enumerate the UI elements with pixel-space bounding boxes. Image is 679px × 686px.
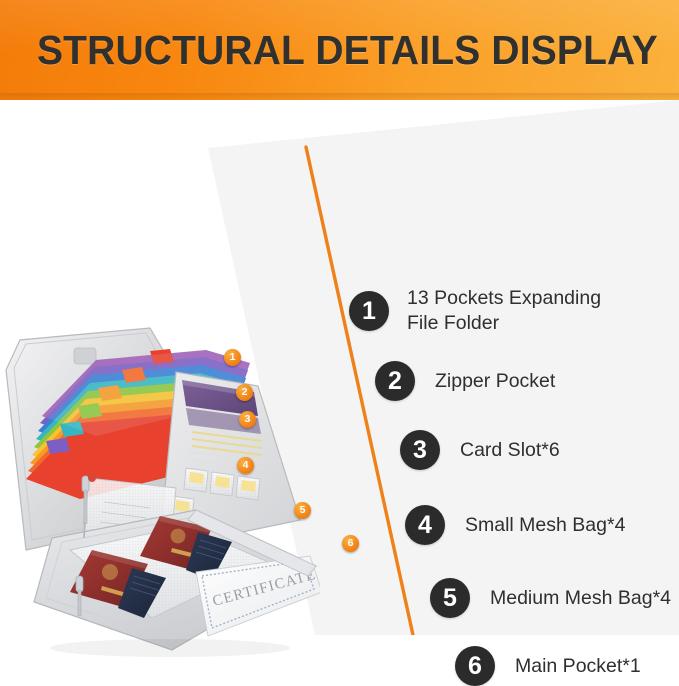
page-title: STRUCTURAL DETAILS DISPLAY [37, 27, 658, 73]
legend-label-5: Medium Mesh Bag*4 [490, 586, 671, 611]
legend-item-5: 5 Medium Mesh Bag*4 [430, 578, 671, 618]
legend-item-1: 1 13 Pockets Expanding File Folder [349, 286, 601, 336]
header-underline-band [0, 93, 679, 100]
legend-badge-1: 1 [349, 291, 389, 331]
legend-label-2: Zipper Pocket [435, 369, 555, 394]
legend-label-6: Main Pocket*1 [515, 654, 641, 679]
legend-item-4: 4 Small Mesh Bag*4 [405, 505, 625, 545]
legend-badge-3: 3 [400, 430, 440, 470]
legend-item-3: 3 Card Slot*6 [400, 430, 560, 470]
legend-label-3: Card Slot*6 [460, 438, 560, 463]
legend-item-6: 6 Main Pocket*1 [455, 646, 641, 686]
legend-item-2: 2 Zipper Pocket [375, 361, 555, 401]
legend-label-4: Small Mesh Bag*4 [465, 513, 625, 538]
legend-badge-4: 4 [405, 505, 445, 545]
legend-list: 1 13 Pockets Expanding File Folder 2 Zip… [0, 100, 679, 635]
header-banner: STRUCTURAL DETAILS DISPLAY [0, 0, 679, 100]
legend-label-1: 13 Pockets Expanding File Folder [407, 286, 601, 336]
legend-badge-6: 6 [455, 646, 495, 686]
content-area: CERTIFICATE 1 2 3 4 5 6 [0, 100, 679, 635]
legend-badge-2: 2 [375, 361, 415, 401]
legend-badge-5: 5 [430, 578, 470, 618]
